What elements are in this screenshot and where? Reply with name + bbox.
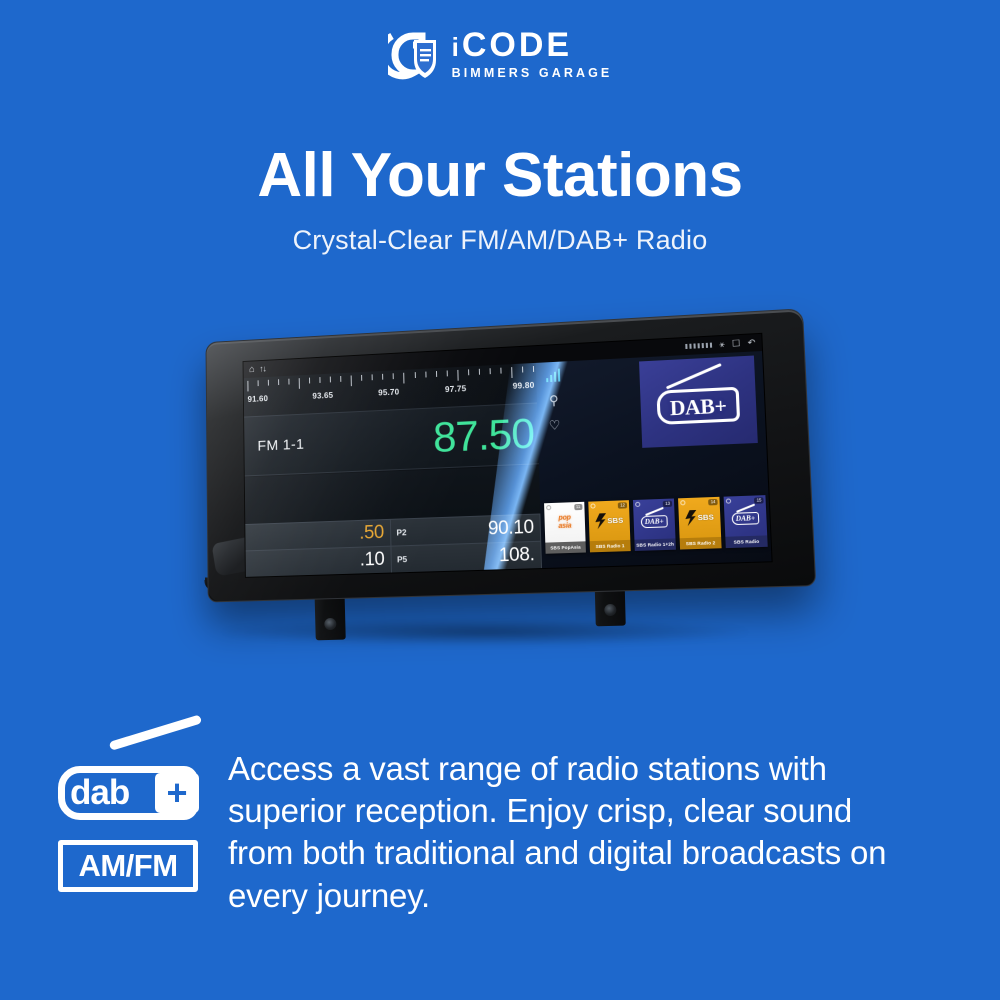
- dab-station-list: popasia 11 SBS PopAsia SBS 12: [544, 495, 768, 554]
- station-tile[interactable]: popasia 11 SBS PopAsia: [544, 502, 586, 554]
- fm-band-label: FM 1-1: [257, 436, 304, 455]
- station-badge: 14: [708, 499, 717, 505]
- antenna-icon: [666, 363, 722, 389]
- search-icon[interactable]: ⚲: [549, 394, 559, 407]
- brand-name: iCODE: [452, 28, 572, 62]
- amfm-badge: AM/FM: [58, 840, 198, 892]
- fm-preset-grid: .50 P2 90.10 .10 P5 108.: [245, 513, 542, 576]
- dab-logo-plus: +: [166, 779, 187, 808]
- fm-radio-pane: 91.60 93.65 95.70 97.75 99.80 FM 1-1 87.…: [244, 363, 542, 577]
- device-shadow: [215, 618, 755, 646]
- station-badge: 13: [663, 501, 672, 507]
- cast-icon[interactable]: ⚹: [719, 340, 725, 349]
- fm-frequency-display: 87.50: [433, 412, 535, 459]
- head-unit-body: ⌂ ↑↓ ⚹ ☐ ↶: [206, 308, 817, 602]
- fm-now-playing: FM 1-1 87.50: [244, 403, 539, 477]
- fm-tick-label: 95.70: [378, 387, 399, 398]
- page-title: All Your Stations: [0, 140, 1000, 211]
- fm-tick-label: 91.60: [248, 393, 269, 404]
- preset-cell[interactable]: P5 108.: [391, 541, 542, 573]
- brand-name-i: i: [452, 32, 462, 62]
- popasia-logo-icon: popasia: [558, 515, 571, 530]
- brand-name-rest: CODE: [462, 26, 572, 64]
- home-icon[interactable]: ⌂: [249, 365, 255, 375]
- heart-icon[interactable]: ♡: [549, 418, 561, 431]
- preset-number: P2: [396, 527, 406, 537]
- brand-tagline: BIMMERS GARAGE: [452, 67, 613, 80]
- preset-value: .50: [359, 522, 384, 545]
- station-badge: 12: [618, 502, 627, 508]
- shield-g-icon: [388, 28, 438, 80]
- station-label: SBS Radio: [725, 535, 767, 548]
- station-tile[interactable]: SBS 12 SBS Radio 1: [588, 500, 630, 552]
- dab-logo-plus-badge: +: [155, 773, 199, 813]
- station-badge: 11: [574, 504, 583, 510]
- dab-hero-tile[interactable]: DAB+: [639, 356, 758, 448]
- dab-plus-logo: dab +: [58, 742, 206, 820]
- dab-radio-pane: ⚲ ♡ DAB+ popasia: [536, 351, 772, 568]
- fm-tick-label: 93.65: [312, 390, 333, 401]
- station-label: SBS PopAsia: [545, 541, 586, 553]
- sbs-logo-icon: SBS: [685, 509, 714, 526]
- amfm-badge-label: AM/FM: [78, 848, 177, 884]
- fm-tick-label: 97.75: [445, 383, 467, 394]
- head-unit-product-image: ⌂ ↑↓ ⚹ ☐ ↶: [175, 318, 825, 688]
- brand-logo: iCODE BIMMERS GARAGE: [0, 28, 1000, 80]
- back-icon[interactable]: ↶: [747, 338, 755, 347]
- dab-plus-icon: DAB+: [639, 509, 668, 528]
- page-subtitle: Crystal-Clear FM/AM/DAB+ Radio: [0, 225, 1000, 256]
- station-badge: 15: [754, 497, 763, 504]
- preset-value: 90.10: [488, 517, 534, 541]
- head-unit-screen: ⌂ ↑↓ ⚹ ☐ ↶: [243, 334, 771, 577]
- recent-apps-icon[interactable]: ☐: [732, 339, 741, 349]
- antenna-icon: [109, 714, 202, 750]
- preset-cell[interactable]: .10: [246, 546, 392, 577]
- fm-tick-label: 99.80: [513, 380, 535, 391]
- up-down-arrows-icon: ↑↓: [259, 365, 266, 374]
- status-indicator-dots: [685, 343, 712, 349]
- dab-logo-text: dab: [70, 775, 129, 810]
- dab-hero-label: DAB+: [651, 393, 747, 423]
- body-copy: Access a vast range of radio stations wi…: [228, 748, 908, 917]
- station-label: SBS Radio 1: [590, 540, 631, 553]
- preset-value: .10: [360, 549, 385, 572]
- preset-number: P5: [397, 554, 407, 564]
- station-tile[interactable]: SBS 14 SBS Radio 2: [678, 497, 722, 550]
- sbs-logo-icon: SBS: [595, 512, 623, 529]
- dab-sidebar: ⚲ ♡: [542, 369, 566, 432]
- preset-value: 108.: [499, 544, 535, 567]
- signal-bars-icon: [546, 370, 561, 383]
- dab-plus-icon: DAB+: [730, 506, 760, 526]
- station-tile[interactable]: DAB+ 13 SBS Radio 1+2h: [633, 498, 676, 550]
- station-label: SBS Radio 2: [680, 537, 722, 550]
- station-label: SBS Radio 1+2h: [634, 538, 676, 551]
- format-badges: dab + AM/FM: [58, 742, 208, 892]
- station-tile[interactable]: DAB+ 15 SBS Radio: [724, 495, 768, 548]
